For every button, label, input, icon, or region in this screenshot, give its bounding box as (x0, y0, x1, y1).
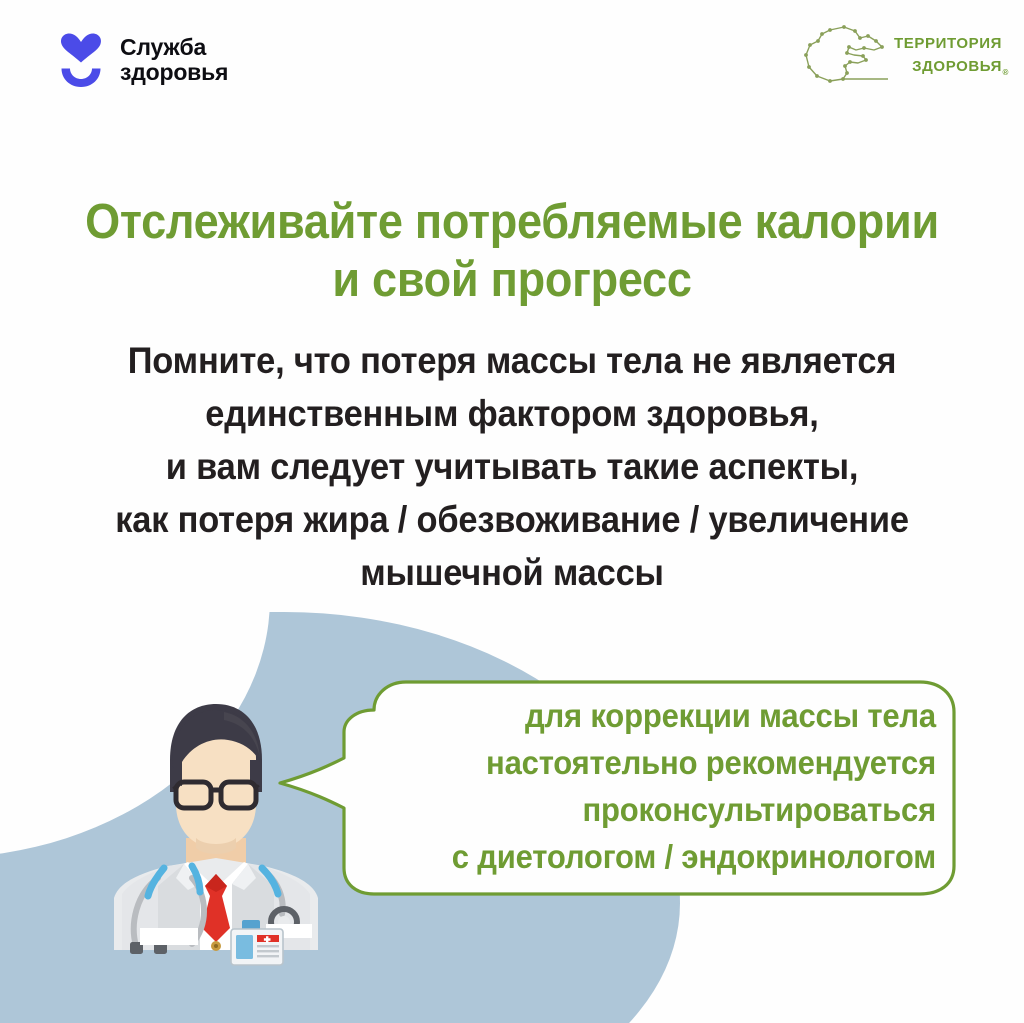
terr-line-1: ТЕРРИТОРИЯ (894, 32, 1002, 55)
body-paragraph: Помните, что потеря массы тела не являет… (36, 334, 988, 599)
territoriya-zdorovya-wordmark: ТЕРРИТОРИЯ ЗДОРОВЬЯ ® (894, 32, 1002, 81)
territory-map-outline-icon (800, 24, 888, 88)
page-title: Отслеживайте потребляемые калории и свой… (41, 193, 983, 309)
bubble-line-3: проконсультироваться (396, 786, 936, 833)
sluzhba-zdorovya-logo[interactable]: Служба здоровья (55, 32, 228, 88)
heart-smile-logo-icon (55, 32, 107, 88)
infographic-canvas: Служба здоровья (0, 0, 1024, 1023)
header: Служба здоровья (0, 0, 1024, 120)
speech-bubble: для коррекции массы тела настоятельно ре… (272, 672, 964, 904)
headline-line-2: и свой прогресс (41, 251, 983, 309)
terr-line-2: ЗДОРОВЬЯ (894, 55, 1002, 78)
body-line-4: как потеря жира / обезвоживание / увелич… (36, 493, 988, 546)
logo-line-2: здоровья (120, 60, 228, 85)
bubble-line-2: настоятельно рекомендуется (396, 739, 936, 786)
body-line-3: и вам следует учитывать такие аспекты, (36, 440, 988, 493)
body-line-1: Помните, что потеря массы тела не являет… (36, 334, 988, 387)
speech-bubble-text: для коррекции массы тела настоятельно ре… (396, 692, 936, 880)
body-line-2: единственным фактором здоровья, (36, 387, 988, 440)
logo-line-1: Служба (120, 35, 228, 60)
bubble-line-1: для коррекции массы тела (396, 692, 936, 739)
registered-mark: ® (1003, 69, 1010, 77)
bubble-line-4: с диетологом / эндокринологом (396, 833, 936, 880)
sluzhba-zdorovya-wordmark: Служба здоровья (120, 35, 228, 85)
territoriya-zdorovya-logo[interactable]: ТЕРРИТОРИЯ ЗДОРОВЬЯ ® (800, 24, 1002, 88)
body-line-5: мышечной массы (36, 546, 988, 599)
headline-line-1: Отслеживайте потребляемые калории (41, 193, 983, 251)
